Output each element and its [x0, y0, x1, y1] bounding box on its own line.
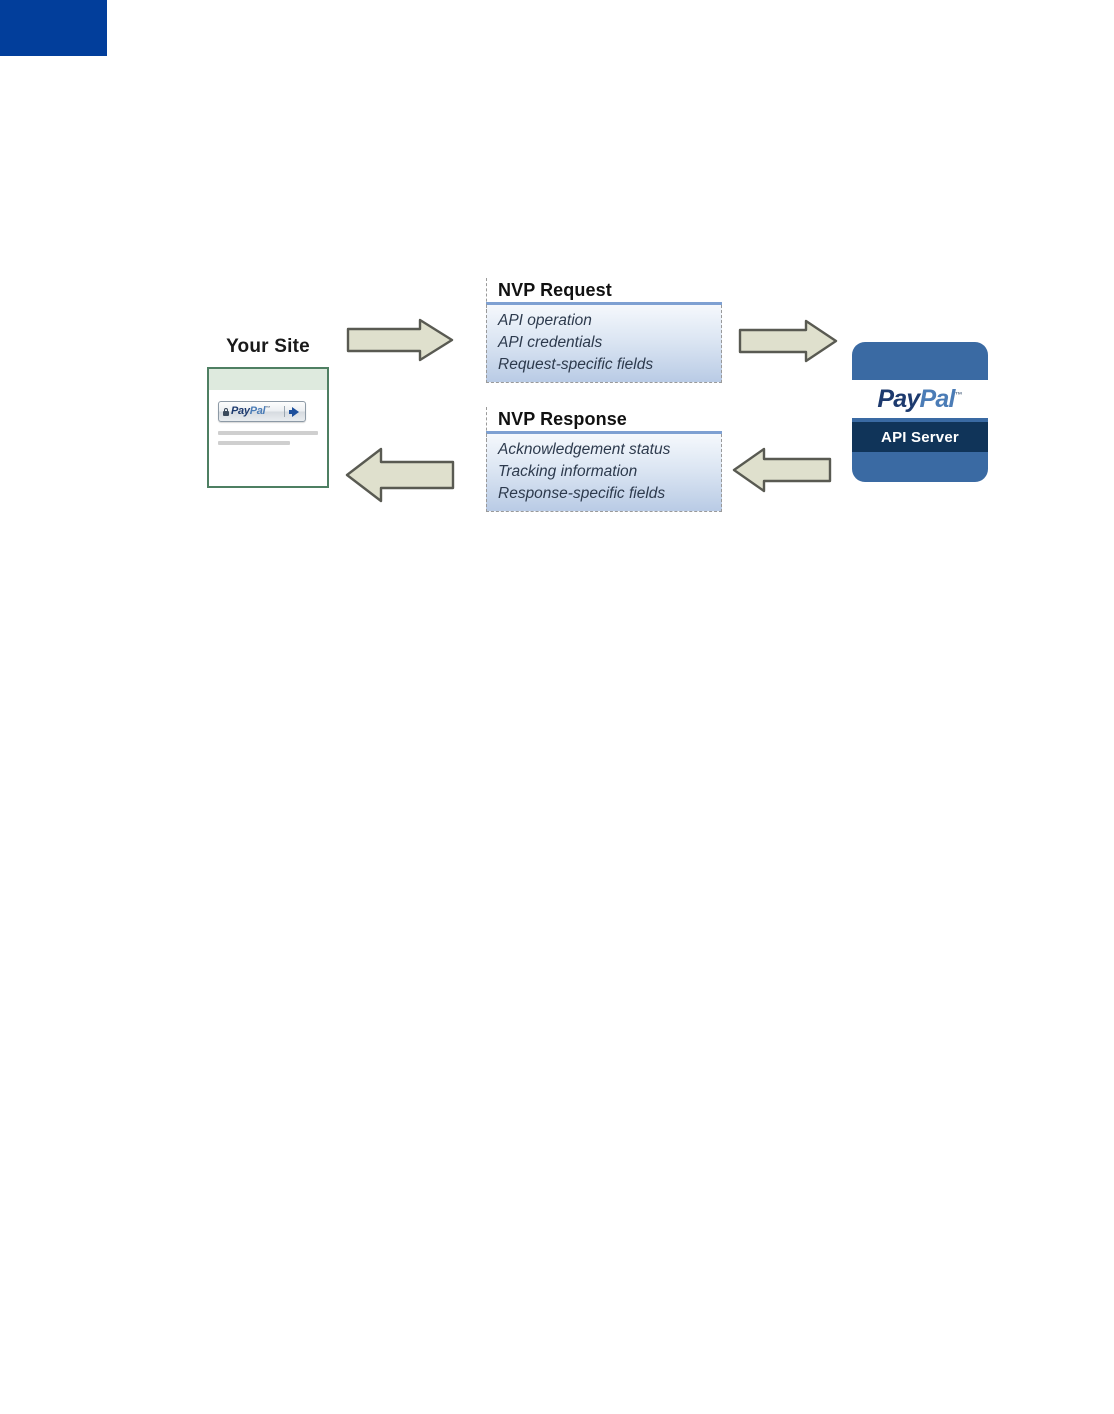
- paypal-wordmark-pay: Pay: [877, 385, 919, 413]
- page-corner-marker: [0, 0, 107, 56]
- nvp-response-panel: NVP Response Acknowledgement status Trac…: [486, 407, 722, 512]
- paypal-wordmark-pal: Pal: [919, 385, 954, 413]
- content-line: [218, 431, 318, 435]
- nvp-request-body: API operation API credentials Request-sp…: [486, 305, 722, 383]
- nvp-request-item: Request-specific fields: [498, 354, 715, 376]
- arrow-server-to-response: [732, 446, 832, 494]
- arrow-response-to-site: [345, 446, 455, 504]
- paypal-wordmark-pal: Pal: [250, 405, 266, 417]
- your-site-label: Your Site: [194, 336, 342, 358]
- nvp-api-flow-diagram: Your Site PayPal™: [180, 266, 1010, 536]
- nvp-response-item: Acknowledgement status: [498, 439, 715, 461]
- nvp-request-item: API operation: [498, 310, 715, 332]
- nvp-response-body: Acknowledgement status Tracking informat…: [486, 434, 722, 512]
- your-site-node: Your Site PayPal™: [194, 336, 342, 488]
- nvp-response-title: NVP Response: [486, 407, 722, 431]
- arrow-request-to-server: [738, 319, 838, 363]
- paypal-wordmark-pay: Pay: [231, 405, 250, 417]
- paypal-wordmark-small: PayPal™: [231, 406, 270, 417]
- nvp-response-item: Response-specific fields: [498, 483, 715, 505]
- trademark-mark: ™: [955, 390, 963, 399]
- content-line: [218, 441, 290, 445]
- nvp-request-panel: NVP Request API operation API credential…: [486, 278, 722, 383]
- nvp-request-item: API credentials: [498, 332, 715, 354]
- paypal-checkout-button-arrow: [285, 407, 305, 417]
- browser-window: PayPal™: [207, 367, 329, 488]
- nvp-request-dashed-tick: [486, 278, 487, 312]
- trademark-mark: ™: [265, 405, 270, 411]
- nvp-response-item: Tracking information: [498, 461, 715, 483]
- lock-icon: [223, 408, 229, 416]
- nvp-request-title: NVP Request: [486, 278, 722, 302]
- paypal-logo-band: PayPal™: [852, 380, 988, 418]
- api-server-label: API Server: [881, 429, 959, 446]
- browser-window-body: PayPal™: [209, 391, 327, 445]
- paypal-checkout-button[interactable]: PayPal™: [218, 401, 306, 422]
- api-server-band: API Server: [852, 422, 988, 452]
- paypal-api-server-node: PayPal™ API Server: [852, 342, 988, 482]
- nvp-response-dashed-tick: [486, 407, 487, 441]
- arrow-right-icon: [292, 407, 299, 417]
- arrow-site-to-request: [346, 318, 454, 362]
- paypal-checkout-button-main: PayPal™: [219, 406, 285, 417]
- browser-window-header: [209, 369, 327, 391]
- paypal-wordmark: PayPal™: [877, 387, 962, 412]
